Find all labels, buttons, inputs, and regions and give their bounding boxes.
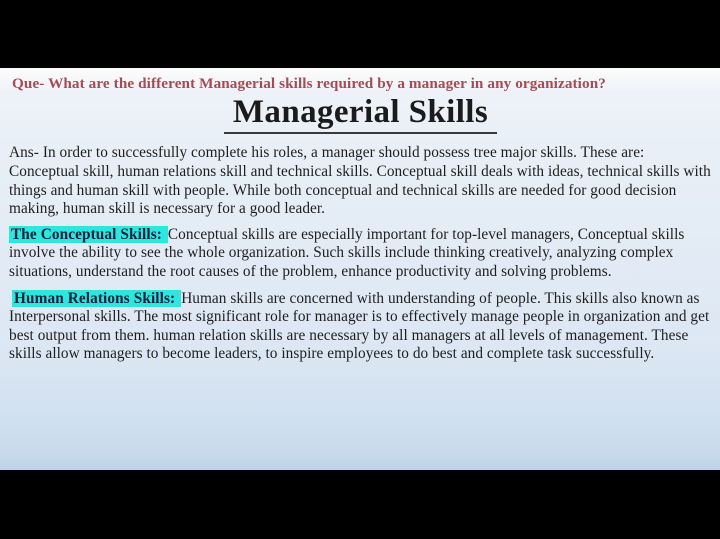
letterbox-bar-bottom [0,470,720,539]
letterbox-bar-top [0,0,720,68]
video-frame: Que- What are the different Managerial s… [0,0,720,539]
paragraph-intro: Ans- In order to successfully complete h… [9,144,712,218]
page-title-text: Managerial Skills [224,94,497,134]
paragraph-human-relations: Human Relations Skills: Human skills are… [9,290,712,364]
paragraph-conceptual: The Conceptual Skills: Conceptual skills… [9,226,712,282]
question-line: Que- What are the different Managerial s… [12,75,712,92]
human-relations-skills-heading: Human Relations Skills: [12,290,181,307]
page-title: Managerial Skills [9,94,712,134]
slide-content: Que- What are the different Managerial s… [0,68,720,470]
conceptual-skills-heading: The Conceptual Skills: [9,226,168,243]
paragraph-intro-body: Ans- In order to successfully complete h… [9,144,711,217]
